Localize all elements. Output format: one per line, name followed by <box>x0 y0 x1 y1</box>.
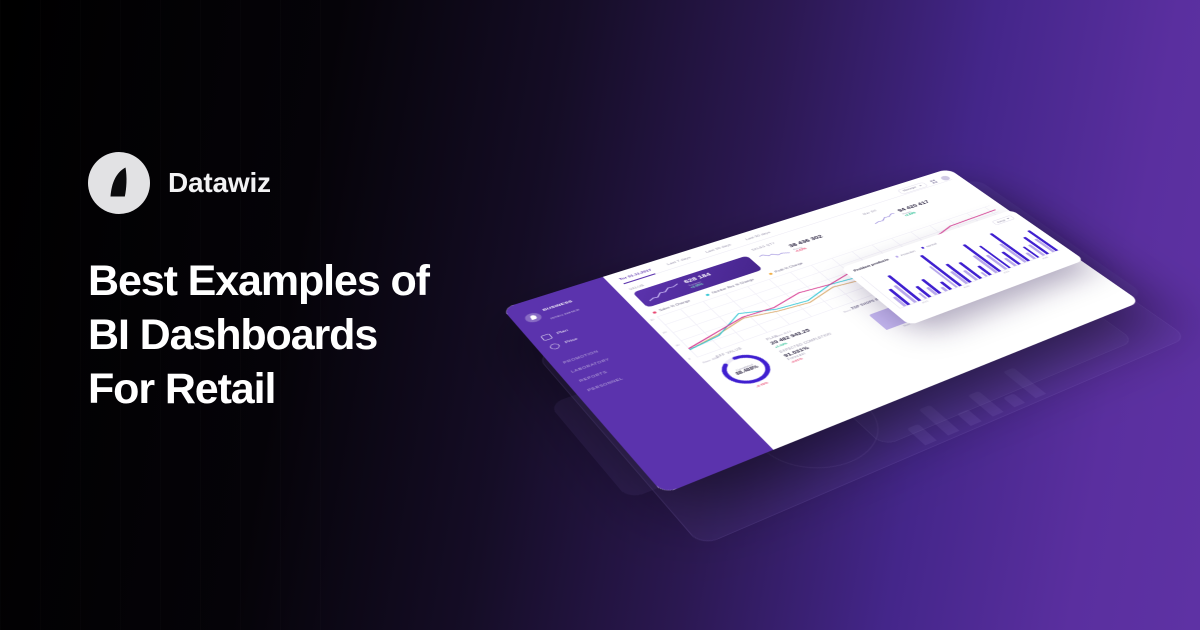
promo-banner: Datawiz Best Examples of BI Dashboards F… <box>0 0 1200 630</box>
sidebar-logo-subtitle: INTELLIGENCE <box>550 308 581 320</box>
headline-line-1: Best Examples of <box>88 254 558 308</box>
sparkline-margin <box>869 211 901 225</box>
grid-icon[interactable] <box>929 180 937 184</box>
left-content: Datawiz Best Examples of BI Dashboards F… <box>88 152 558 417</box>
legend-dot-profit <box>768 272 773 275</box>
sidebar-logo-title: BUSINESS <box>542 299 574 312</box>
chevron-down-icon <box>919 185 923 187</box>
legend-dot-sales <box>652 311 657 314</box>
headline-line-2: BI Dashboards <box>88 308 558 362</box>
grid-icon <box>540 333 553 341</box>
sidebar-logo-text: BUSINESS INTELLIGENCE <box>538 296 583 322</box>
tag-icon <box>548 343 561 351</box>
tab-last-7-days[interactable]: Last 7 days <box>666 256 692 266</box>
sparkline-sales-qty <box>757 247 791 263</box>
tab-today[interactable]: Tor 01.11.2017 <box>619 269 653 282</box>
sidebar-item-price-label: Price <box>564 337 579 344</box>
dashboard-mockup: BUSINESS INTELLIGENCE Plan Price <box>545 108 1200 578</box>
brand-name: Datawiz <box>168 167 271 199</box>
headline-line-3: For Retail <box>88 362 558 416</box>
sidebar-logo-icon <box>522 311 544 324</box>
brand-lockup: Datawiz <box>88 152 558 214</box>
tab-last-30-days[interactable]: Last 30 days <box>705 244 733 254</box>
page-title: Best Examples of BI Dashboards For Retai… <box>88 254 558 417</box>
tab-last-90-days[interactable]: Last 90 days <box>745 231 772 241</box>
datawiz-leaf-mark-icon <box>88 152 150 214</box>
legend-dot-number-rec <box>705 293 710 296</box>
sidebar-item-plan-label: Plan <box>556 329 569 335</box>
